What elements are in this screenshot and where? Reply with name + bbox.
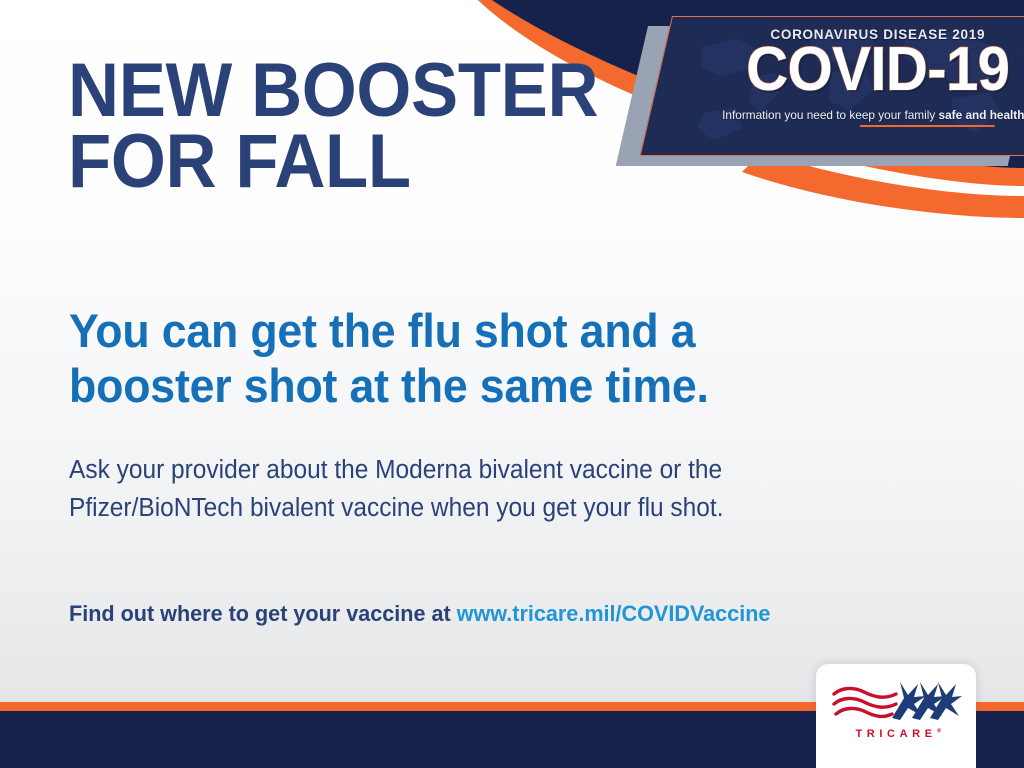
vaccine-url-link[interactable]: www.tricare.mil/COVIDVaccine [457,601,771,626]
subheading-line-2: booster shot at the same time. [69,359,709,412]
tricare-logo-card: TRICARE® [816,664,976,768]
poster-canvas: CORONAVIRUS DISEASE 2019 COVID-19 Inform… [0,0,1024,768]
badge-tagline-prefix: Information you need to keep your family [722,108,938,122]
badge-title: COVID-19 [723,40,1024,101]
call-to-action: Find out where to get your vaccine at ww… [69,601,914,627]
page-title: NEW BOOSTER FOR FALL [68,56,626,197]
tagline-underline [860,125,995,127]
badge-tagline: Information you need to keep your family… [713,108,1024,122]
tricare-wordmark-text: TRICARE [855,728,936,740]
body-line-1: Ask your provider about the Moderna biva… [69,456,722,484]
registered-mark: ® [937,728,941,734]
cta-prefix: Find out where to get your vaccine at [69,601,457,626]
body-line-2: Pfizer/BioNTech bivalent vaccine when yo… [69,494,724,522]
subheading: You can get the flu shot and a booster s… [69,303,858,414]
covid19-badge: CORONAVIRUS DISEASE 2019 COVID-19 Inform… [640,16,1024,156]
body-paragraph: Ask your provider about the Moderna biva… [69,452,885,527]
tricare-wordmark: TRICARE® [816,728,976,740]
tricare-logo-icon [830,678,962,726]
subheading-line-1: You can get the flu shot and a [69,304,695,357]
badge-tagline-bold: safe and healthy. [939,108,1024,122]
headline-line-2: FOR FALL [68,127,626,198]
